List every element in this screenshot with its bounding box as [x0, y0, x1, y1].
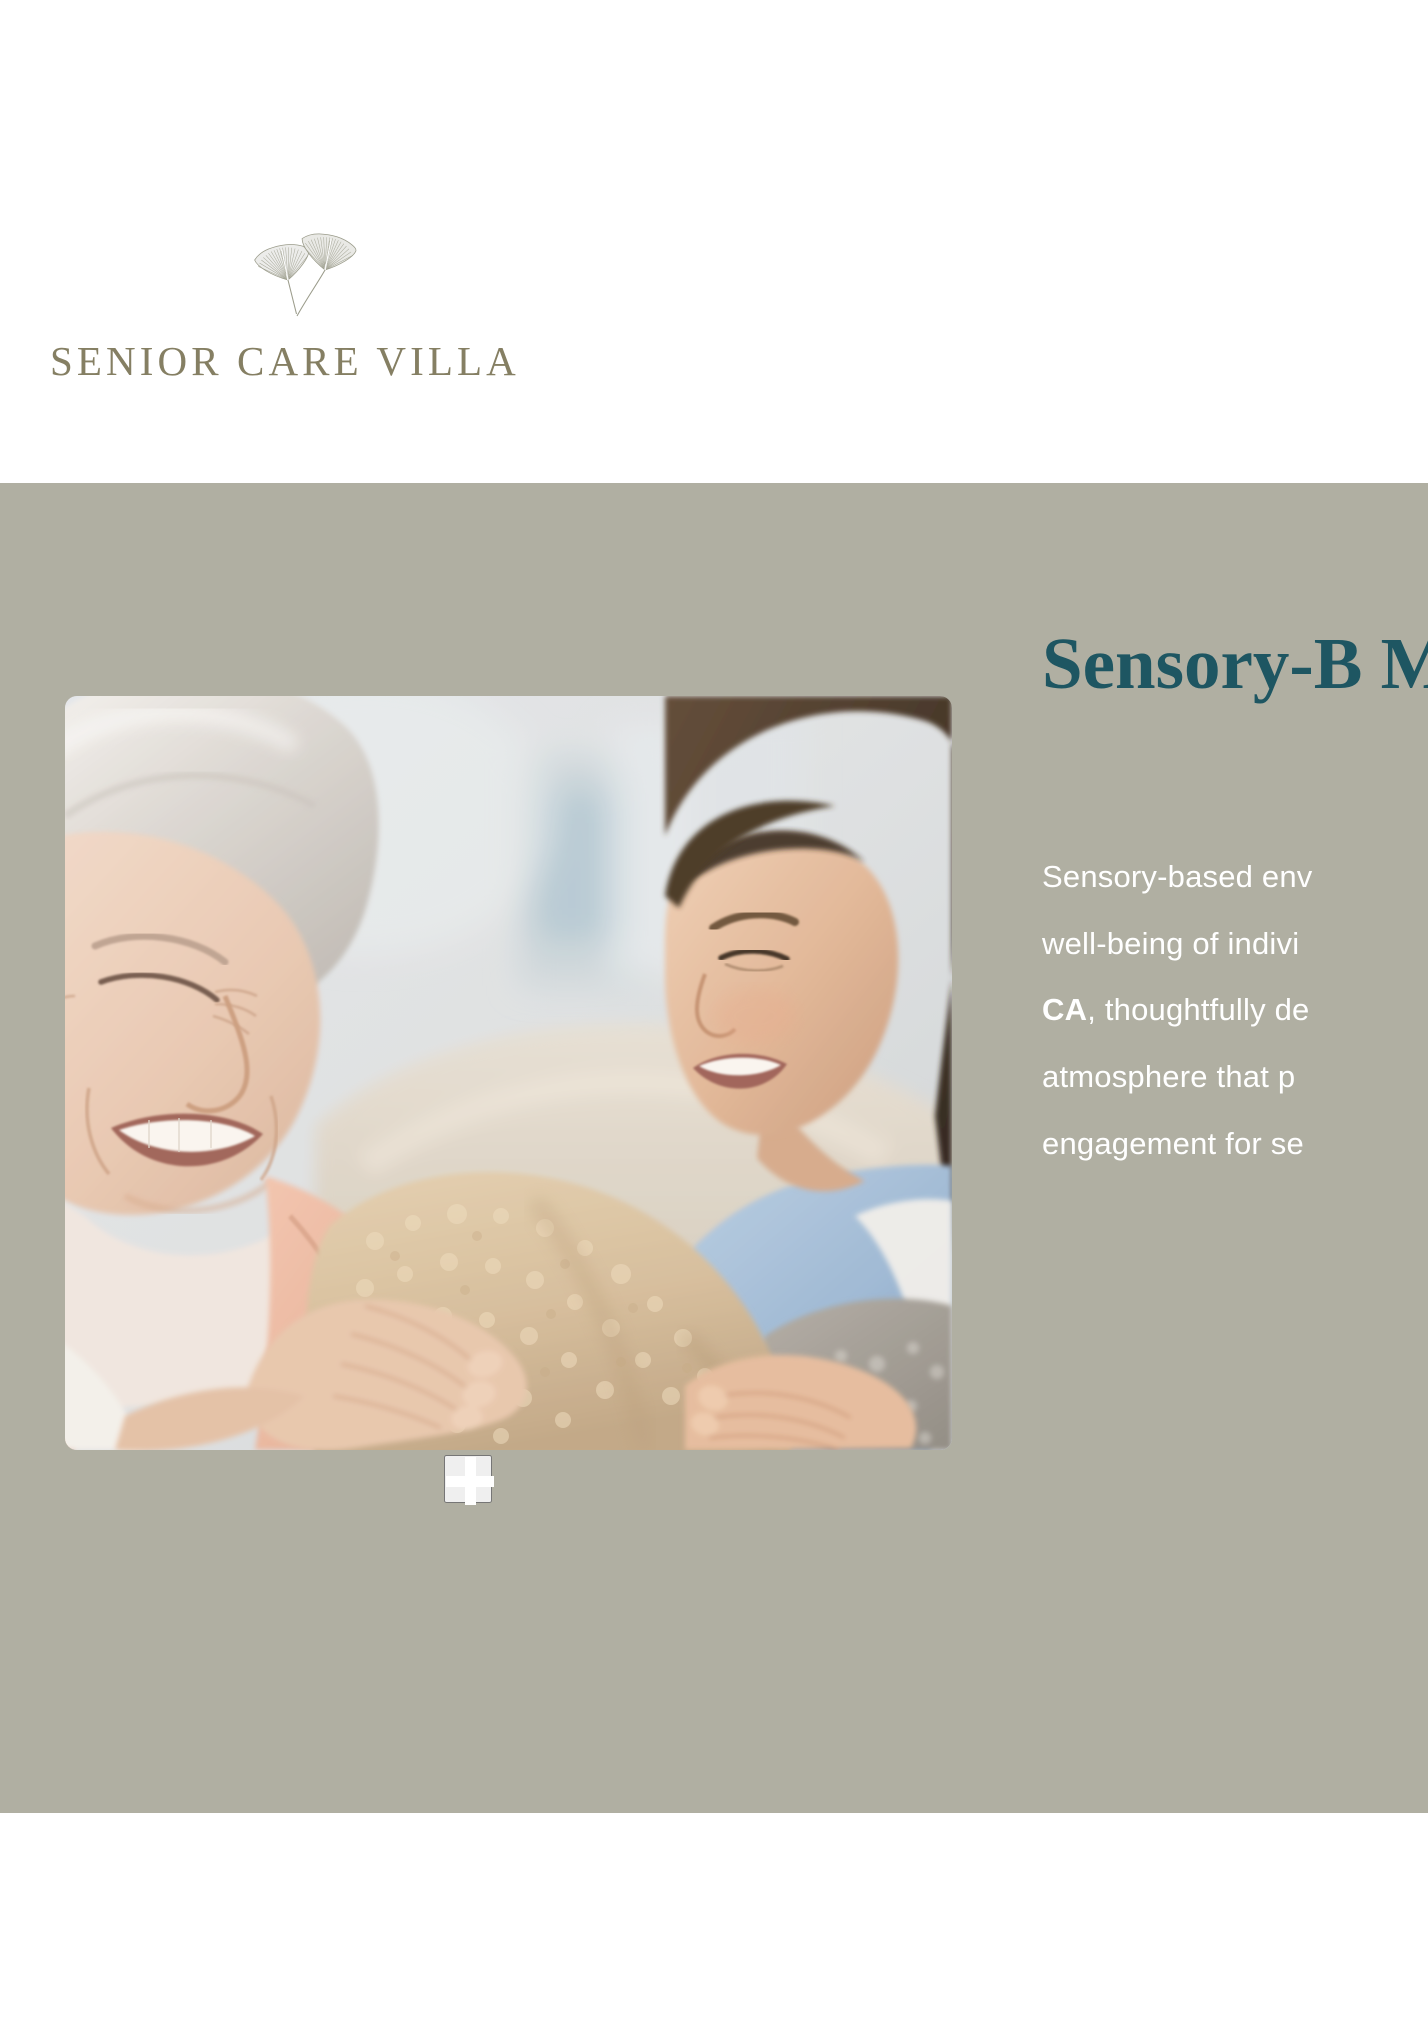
section-heading-line-1: Sensory-B [1042, 623, 1362, 704]
section-heading: Sensory-B Memory C [1042, 621, 1428, 707]
plus-vertical-bar [465, 1457, 476, 1505]
page-below-fold-area [0, 1813, 1428, 2018]
body-line-4: atmosphere that p [1042, 1044, 1428, 1111]
section-body-paragraph: Sensory-based env well-being of indivi C… [1042, 844, 1428, 1177]
expand-plus-icon[interactable] [444, 1455, 492, 1503]
body-line-2: well-being of indivi [1042, 911, 1428, 978]
brand-name: SENIOR CARE VILLA [50, 341, 520, 382]
site-header: SENIOR CARE VILLA [0, 0, 1428, 483]
body-line-5: engagement for se [1042, 1111, 1428, 1178]
sensory-memory-care-section: Sensory-B Memory C Sensory-based env wel… [0, 483, 1428, 1813]
body-line-3-rest: , thoughtfully de [1087, 992, 1309, 1027]
body-line-3: CA, thoughtfully de [1042, 977, 1428, 1044]
sensory-care-photo [65, 696, 952, 1450]
body-line-1: Sensory-based env [1042, 844, 1428, 911]
photo-scene [65, 696, 952, 1450]
ginkgo-leaf-icon [245, 218, 365, 328]
section-heading-line-2: Memory C [1381, 623, 1428, 704]
body-emphasis-ca: CA [1042, 992, 1087, 1027]
